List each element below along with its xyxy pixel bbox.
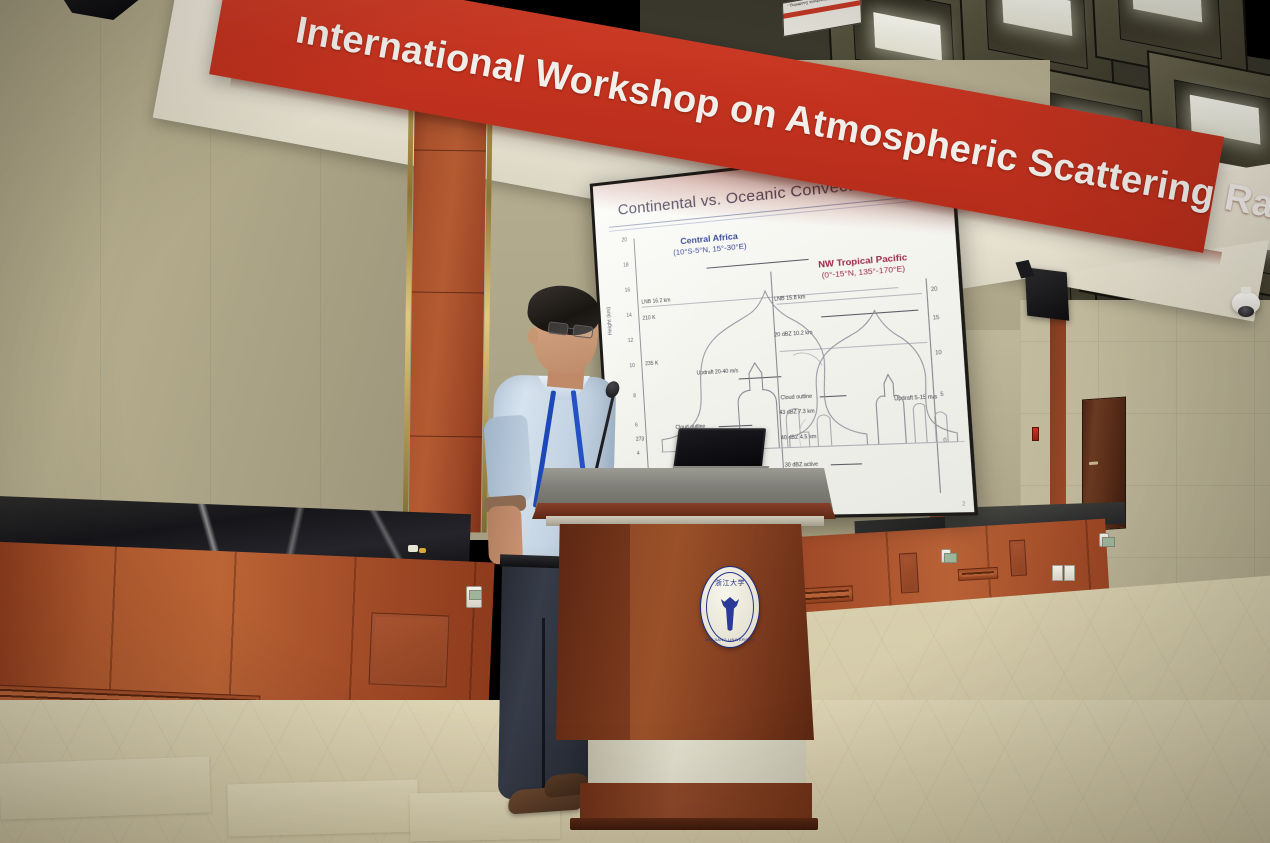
podium-plinth xyxy=(570,818,818,830)
podium-mid-band xyxy=(588,740,806,786)
university-emblem: 浙江大学 ZHEJIANG UNIVERSITY xyxy=(700,566,760,648)
air-vent xyxy=(958,567,999,581)
y-tick-label: 12 xyxy=(628,338,634,344)
dome-camera-icon xyxy=(1232,292,1260,314)
access-panel[interactable] xyxy=(899,553,919,594)
podium-foot xyxy=(580,783,812,821)
conference-photo-scene: International Workshop on Atmospheric Sc… xyxy=(0,0,1270,843)
presenter-leg-split xyxy=(542,618,545,788)
y-tick-label: 8 xyxy=(633,393,636,399)
y-tick-label: 18 xyxy=(623,262,629,269)
emblem-chinese-name: 浙江大学 xyxy=(701,578,759,588)
laptop-screen[interactable] xyxy=(673,428,766,468)
y-tick-label: 6 xyxy=(635,422,638,428)
emblem-english-name: ZHEJIANG UNIVERSITY xyxy=(701,637,759,642)
thermostat[interactable] xyxy=(466,586,482,608)
access-panel[interactable] xyxy=(369,612,450,687)
door-handle[interactable] xyxy=(1089,461,1098,465)
floor-debris xyxy=(408,545,418,552)
y-tick-label: 20 xyxy=(621,237,627,244)
presenter-ear xyxy=(528,328,538,345)
presenter-sleeve xyxy=(483,415,533,504)
y-tick-label: 14 xyxy=(626,313,632,319)
floor-debris xyxy=(419,548,426,553)
light-switch[interactable] xyxy=(1064,565,1075,581)
fire-alarm-icon xyxy=(1032,427,1039,441)
y-tick-label: 10 xyxy=(629,363,635,369)
thermostat[interactable] xyxy=(941,549,951,563)
podium-left-face xyxy=(556,524,630,740)
floor-mat xyxy=(0,756,211,819)
y-tick-label: 4 xyxy=(637,451,640,457)
access-panel[interactable] xyxy=(1009,540,1027,577)
thermostat[interactable] xyxy=(1099,533,1109,547)
wall-speaker-icon xyxy=(1025,267,1069,321)
y-tick-label: 16 xyxy=(625,287,631,293)
floor-mat xyxy=(227,780,418,837)
slide-page-number: 2 xyxy=(962,501,966,508)
light-switch[interactable] xyxy=(1052,565,1063,581)
